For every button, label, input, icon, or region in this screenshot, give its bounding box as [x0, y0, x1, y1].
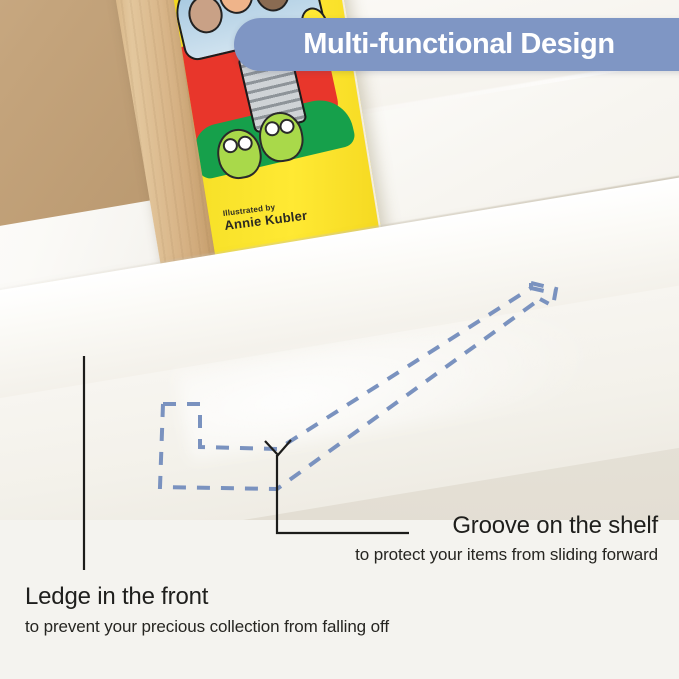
illustration-character	[185, 0, 227, 37]
frog-eye	[222, 137, 239, 154]
callout-groove-title: Groove on the shelf	[355, 512, 658, 540]
illustration-character	[251, 0, 293, 15]
callout-groove: Groove on the shelf to protect your item…	[355, 512, 658, 565]
frog-eye	[278, 118, 295, 135]
callout-ledge: Ledge in the front to prevent your preci…	[25, 583, 389, 637]
callout-groove-subtitle: to protect your items from sliding forwa…	[355, 545, 658, 565]
frog-eye	[237, 135, 254, 152]
header-banner: Multi-functional Design	[234, 18, 679, 71]
product-photo: Illustrated by Annie Kubler	[0, 0, 679, 520]
infographic-canvas: Illustrated by Annie Kubler Multi-functi…	[0, 0, 679, 679]
callout-ledge-subtitle: to prevent your precious collection from…	[25, 617, 389, 637]
header-banner-text: Multi-functional Design	[303, 28, 624, 61]
callout-ledge-title: Ledge in the front	[25, 583, 389, 611]
illustration-frog	[255, 109, 306, 165]
illustration-frog	[214, 126, 265, 182]
frog-eye	[264, 120, 281, 137]
